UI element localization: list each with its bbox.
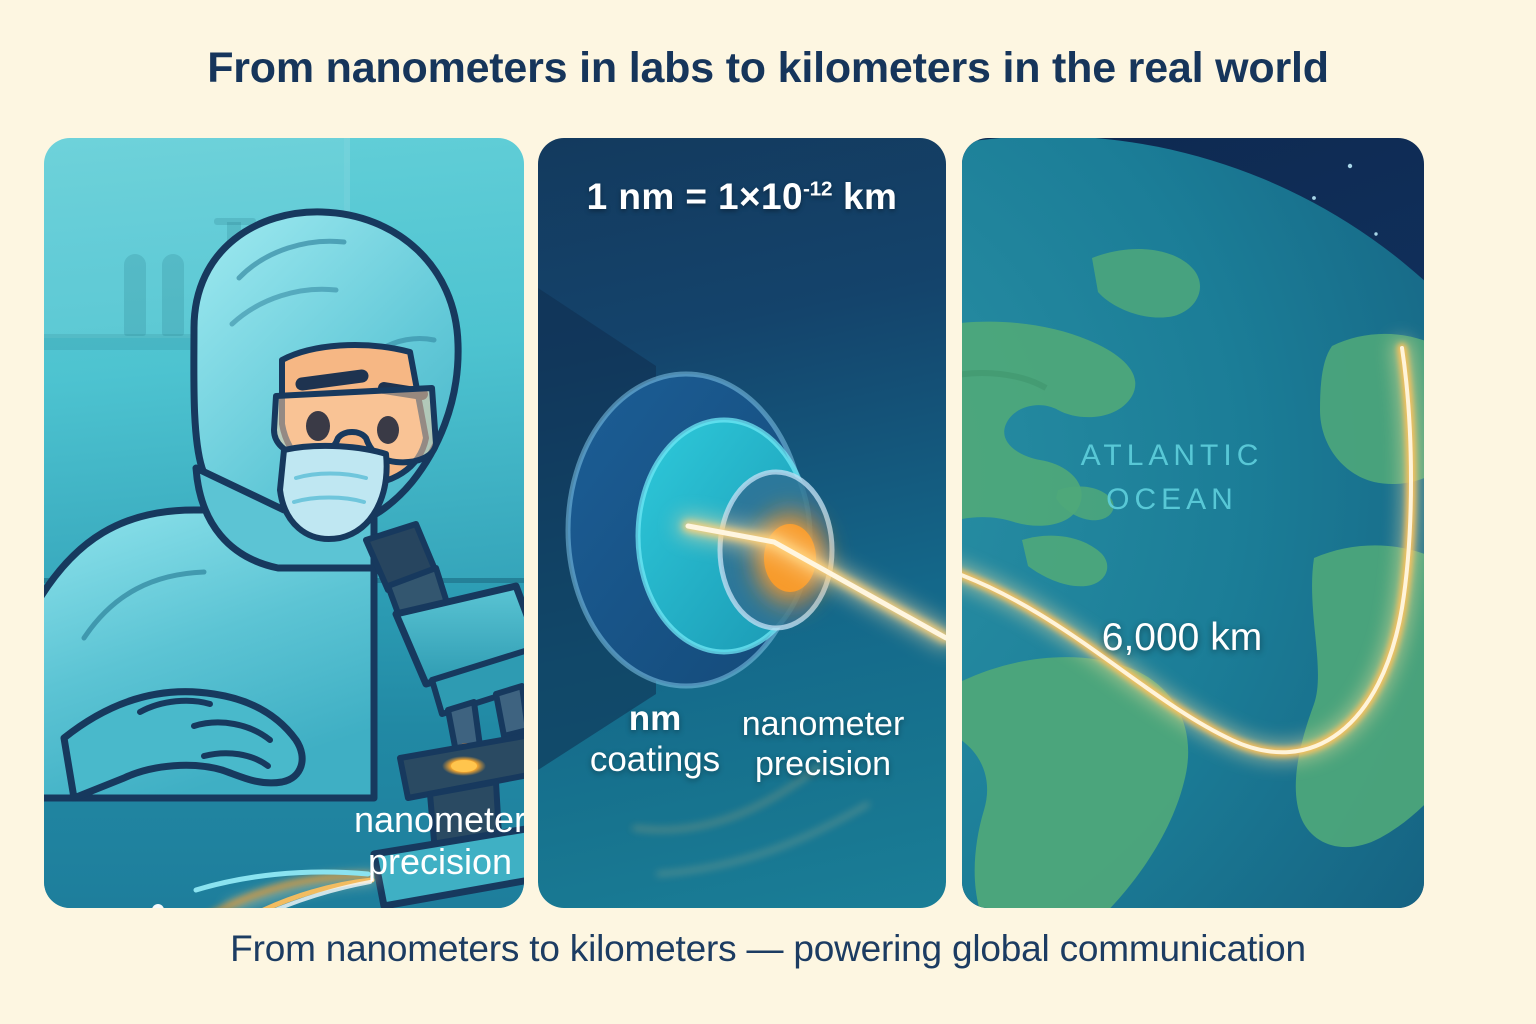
globe-illustration <box>962 138 1424 908</box>
distance-label: 6,000 km <box>1032 616 1332 660</box>
panel-globe: ATLANTIC OCEAN 6,000 km <box>962 138 1424 908</box>
panel-fiber: 1 nm = 1×10-12 km nm coatings nanometer … <box>538 138 946 908</box>
equation-lhs: 1 nm <box>587 176 675 217</box>
ocean-label-line2: OCEAN <box>1106 483 1238 516</box>
fiber-illustration <box>538 138 946 908</box>
lab-caption-line1: nanometer <box>354 799 524 840</box>
label-precision-line2: precision <box>755 745 891 783</box>
conversion-equation: 1 nm = 1×10-12 km <box>538 176 946 218</box>
label-precision-line1: nanometer <box>742 705 905 743</box>
label-nm-line2: coatings <box>590 740 720 779</box>
panel-lab: nanometer precision <box>44 138 524 908</box>
equation-mantissa: 1×10 <box>718 176 803 217</box>
page-caption: From nanometers to kilometers — powering… <box>0 928 1536 970</box>
equation-equals: = <box>685 176 707 217</box>
page-title: From nanometers in labs to kilometers in… <box>0 44 1536 93</box>
label-nanometer-precision: nanometer precision <box>708 704 938 784</box>
equation-exponent: -12 <box>803 178 832 201</box>
equation-unit: km <box>843 176 897 217</box>
lab-caption-line2: precision <box>368 841 512 882</box>
lab-caption-group: nanometer precision <box>44 138 524 908</box>
ocean-label: ATLANTIC OCEAN <box>1022 434 1322 521</box>
ocean-label-line1: ATLANTIC <box>1081 439 1264 472</box>
